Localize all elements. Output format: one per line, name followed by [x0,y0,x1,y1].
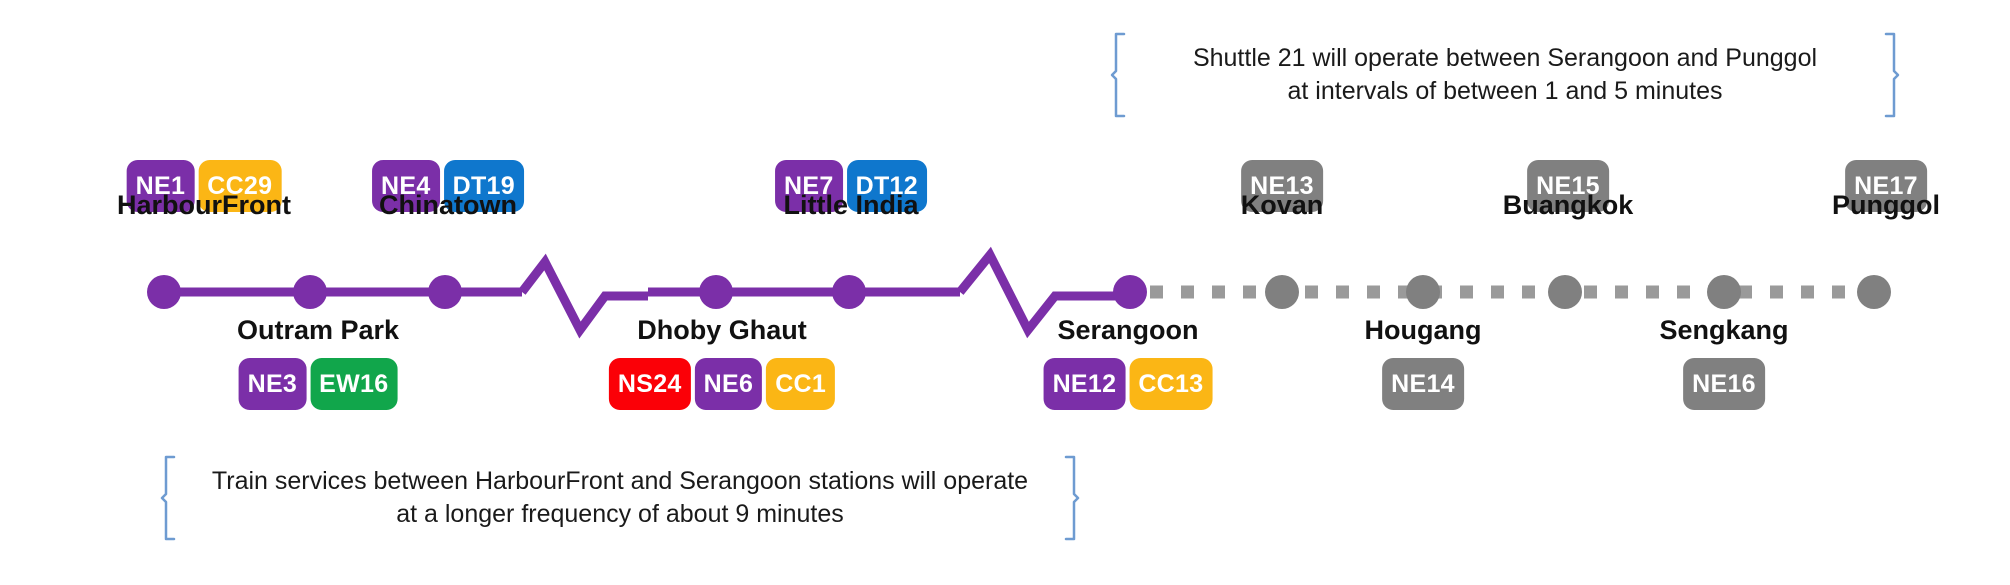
station-label-sengkang: Sengkang [1659,315,1788,346]
annotation-shuttle-note: Shuttle 21 will operate between Serangoo… [1110,32,1900,118]
station-dot-serangoon[interactable] [1113,275,1147,309]
annotation-line: at intervals of between 1 and 5 minutes [1288,75,1723,108]
station-label-punggol: Punggol [1832,190,1940,221]
left-brace-icon [1110,32,1126,118]
right-brace-icon [1064,455,1080,541]
station-dot-outram-park[interactable] [293,275,327,309]
badge-group-sengkang: NE16 [1683,358,1765,410]
station-code-badge-ns24[interactable]: NS24 [609,358,691,410]
station-dot-little-india[interactable] [832,275,866,309]
station-code-badge-ne6[interactable]: NE6 [695,358,763,410]
station-label-buangkok: Buangkok [1503,190,1634,221]
station-label-serangoon: Serangoon [1057,315,1198,346]
station-dot-harbourfront[interactable] [147,275,181,309]
annotation-text: Train services between HarbourFront and … [176,455,1064,541]
annotation-line: Train services between HarbourFront and … [212,465,1028,498]
station-dot-sengkang[interactable] [1707,275,1741,309]
annotation-text: Shuttle 21 will operate between Serangoo… [1126,32,1884,118]
station-dot-punggol[interactable] [1857,275,1891,309]
station-label-outram-park: Outram Park [237,315,399,346]
station-dot-chinatown[interactable] [428,275,462,309]
annotation-line: Shuttle 21 will operate between Serangoo… [1193,42,1817,75]
station-code-badge-ew16[interactable]: EW16 [310,358,397,410]
station-dot-kovan[interactable] [1265,275,1299,309]
station-code-badge-ne12[interactable]: NE12 [1044,358,1126,410]
station-label-harbourfront: HarbourFront [117,190,291,221]
station-label-dhoby-ghaut: Dhoby Ghaut [637,315,807,346]
badge-group-hougang: NE14 [1382,358,1464,410]
annotation-line: at a longer frequency of about 9 minutes [396,498,844,531]
station-label-chinatown: Chinatown [379,190,517,221]
station-code-badge-cc13[interactable]: CC13 [1129,358,1212,410]
station-code-badge-ne3[interactable]: NE3 [239,358,307,410]
station-label-kovan: Kovan [1241,190,1324,221]
service-diagram: NE1CC29HarbourFrontNE3EW16Outram ParkNE4… [0,0,2010,585]
station-label-little-india: Little India [784,190,919,221]
station-code-badge-ne16[interactable]: NE16 [1683,358,1765,410]
left-brace-icon [160,455,176,541]
station-dot-buangkok[interactable] [1548,275,1582,309]
badge-group-dhoby-ghaut: NS24NE6CC1 [609,358,835,410]
station-label-hougang: Hougang [1365,315,1482,346]
station-dot-dhoby-ghaut[interactable] [699,275,733,309]
badge-group-serangoon: NE12CC13 [1044,358,1213,410]
right-brace-icon [1884,32,1900,118]
annotation-frequency-note: Train services between HarbourFront and … [160,455,1080,541]
station-code-badge-ne14[interactable]: NE14 [1382,358,1464,410]
station-dot-hougang[interactable] [1406,275,1440,309]
station-code-badge-cc1[interactable]: CC1 [766,358,835,410]
route-break-zigzag-1 [522,262,648,330]
badge-group-outram-park: NE3EW16 [239,358,398,410]
